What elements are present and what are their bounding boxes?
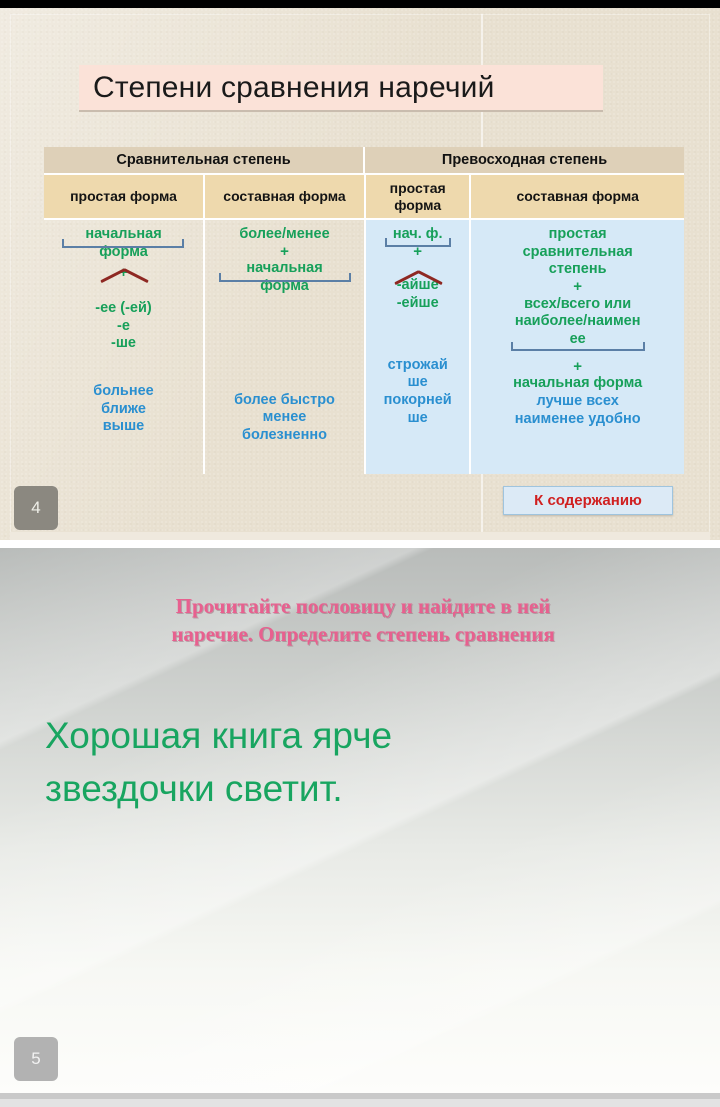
example-text: больнее bbox=[44, 383, 203, 401]
plus-sign: + bbox=[471, 359, 684, 376]
cell-compound-superlative: простая сравнительная степень + всех/все… bbox=[471, 220, 684, 474]
sub-header-simple-comparative: простая форма bbox=[44, 175, 205, 218]
slide-4[interactable]: Степени сравнения наречий Сравнительная … bbox=[0, 8, 720, 540]
rule-text: всех/всего или bbox=[471, 296, 684, 314]
example-text: лучше всех bbox=[471, 393, 684, 411]
sub-header-compound-superlative: составная форма bbox=[471, 175, 684, 218]
group-header-superlative: Превосходная степень bbox=[365, 147, 684, 173]
slide-4-bottom-strip bbox=[10, 532, 710, 540]
proverb-text: Хорошая книга ярче звездочки светит. bbox=[45, 710, 645, 815]
rule-text: степень bbox=[471, 261, 684, 279]
rule-text: простая bbox=[471, 226, 684, 244]
example-text: наименее удобно bbox=[471, 411, 684, 429]
sub-header-compound-comparative: составная форма bbox=[205, 175, 366, 218]
example-text: строжай bbox=[366, 357, 469, 375]
task-prompt-line-1: Прочитайте пословицу и найдите в ней bbox=[78, 592, 648, 620]
table-group-header-row: Сравнительная степень Превосходная степе… bbox=[44, 147, 684, 175]
rule-text: -ее (-ей) bbox=[44, 300, 203, 318]
degrees-of-comparison-table: Сравнительная степень Превосходная степе… bbox=[44, 147, 684, 472]
rule-text: наиболее/наимен bbox=[471, 313, 684, 331]
rule-text: более/менее bbox=[205, 226, 364, 244]
rule-text: -ше bbox=[44, 335, 203, 353]
example-text: выше bbox=[44, 418, 203, 436]
rule-text: сравнительная bbox=[471, 244, 684, 262]
example-text: покорней bbox=[366, 392, 469, 410]
cell-simple-comparative: начальная форма + -ее (-ей) -е -ше больн… bbox=[44, 220, 205, 474]
example-text: менее bbox=[205, 409, 364, 427]
proverb-line-2: звездочки светит. bbox=[45, 763, 645, 816]
bottom-strip-light bbox=[0, 1099, 720, 1107]
cell-simple-superlative: нач. ф. + -айше -ейше строжай ше покорне… bbox=[366, 220, 471, 474]
rule-text: -айше bbox=[366, 277, 469, 295]
plus-sign: + bbox=[205, 244, 364, 261]
rule-text: -е bbox=[44, 318, 203, 336]
page-badge-4: 4 bbox=[14, 486, 58, 530]
presentation-screenshot: Степени сравнения наречий Сравнительная … bbox=[0, 0, 720, 1107]
stem-bracket bbox=[62, 239, 184, 248]
page-badge-5: 5 bbox=[14, 1037, 58, 1081]
top-black-bar bbox=[0, 0, 720, 8]
slide-title-banner: Степени сравнения наречий bbox=[79, 65, 603, 110]
sub-header-simple-superlative: простая форма bbox=[366, 175, 471, 218]
example-text: ближе bbox=[44, 401, 203, 419]
table-body-row: начальная форма + -ее (-ей) -е -ше больн… bbox=[44, 220, 684, 474]
stem-bracket bbox=[385, 238, 451, 247]
example-text: ше bbox=[366, 374, 469, 392]
table-sub-header-row: простая форма составная форма простая фо… bbox=[44, 175, 684, 220]
plus-sign: + bbox=[471, 279, 684, 296]
rule-text: начальная форма bbox=[471, 375, 684, 393]
slide-5[interactable]: Прочитайте пословицу и найдите в ней нар… bbox=[0, 548, 720, 1093]
task-prompt-line-2: наречие. Определите степень сравнения bbox=[78, 620, 648, 648]
cell-compound-comparative: более/менее + начальная форма более быст… bbox=[205, 220, 366, 474]
example-text: ше bbox=[366, 410, 469, 428]
stem-bracket bbox=[219, 273, 351, 282]
stem-bracket bbox=[511, 342, 645, 351]
example-text: более быстро bbox=[205, 392, 364, 410]
proverb-line-1: Хорошая книга ярче bbox=[45, 710, 645, 763]
table-of-contents-button[interactable]: К содержанию bbox=[503, 486, 673, 515]
task-prompt: Прочитайте пословицу и найдите в ней нар… bbox=[78, 592, 648, 649]
group-header-comparative: Сравнительная степень bbox=[44, 147, 365, 173]
example-text: болезненно bbox=[205, 427, 364, 445]
rule-text: -ейше bbox=[366, 295, 469, 313]
page-title: Степени сравнения наречий bbox=[79, 71, 495, 105]
